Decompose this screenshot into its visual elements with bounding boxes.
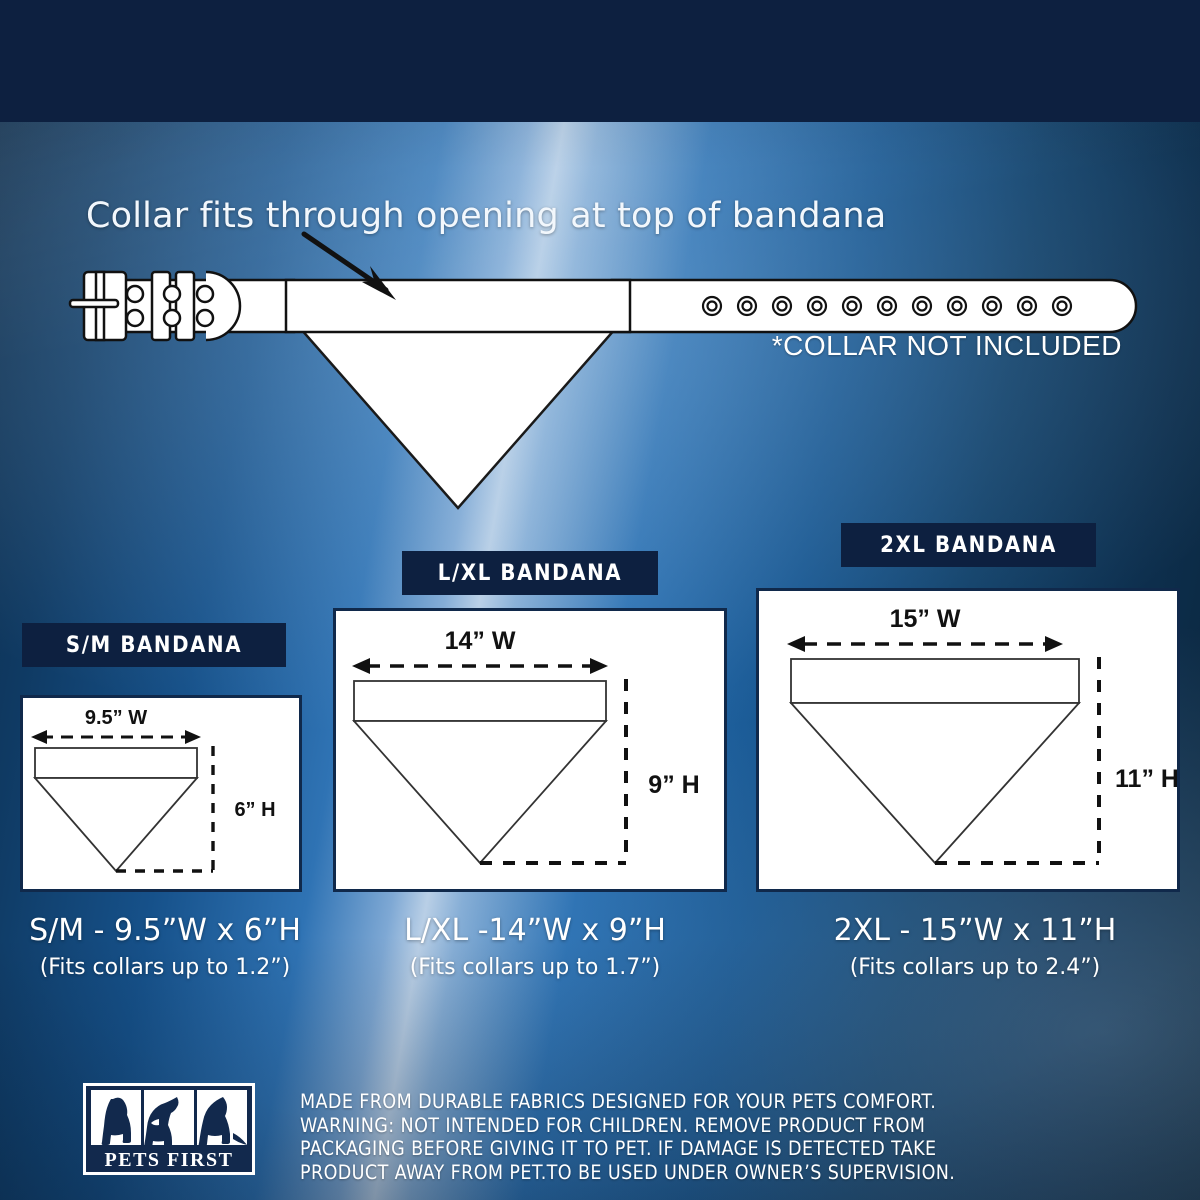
panel-2xl: 15” W 11” H — [756, 588, 1180, 892]
size-chart-page: REVERSIBLE COLLAR SIZE CHART Collar fits… — [0, 0, 1200, 1200]
caption-sm: S/M - 9.5”W x 6”H — [0, 913, 330, 948]
subcaption-2xl: (Fits collars up to 2.4”) — [810, 955, 1140, 980]
bandana-triangle-sm — [35, 778, 197, 871]
subcaption-sm: (Fits collars up to 1.2”) — [0, 955, 330, 980]
bandana-triangle-lxl — [354, 721, 606, 863]
dim-arrow-right-2xl — [1045, 636, 1063, 652]
caption-2xl: 2XL - 15”W x 11”H — [810, 913, 1140, 948]
collar-hole-b1 — [164, 286, 180, 302]
footer-line-4: PRODUCT AWAY FROM PET.TO BE USED UNDER O… — [300, 1161, 1100, 1185]
dim-arrow-right-lxl — [590, 658, 608, 674]
chip-sm: S/M BANDANA — [22, 623, 286, 667]
brand-name: PETS FIRST — [105, 1149, 234, 1171]
panel-sm: 9.5” W 6” H — [20, 695, 302, 892]
collar-hole-b2 — [164, 310, 180, 326]
dim-width-2xl: 15” W — [890, 605, 961, 633]
footer-disclaimer: MADE FROM DURABLE FABRICS DESIGNED FOR Y… — [300, 1090, 1100, 1184]
dim-height-sm: 6” H — [234, 799, 275, 821]
dim-arrow-left-lxl — [352, 658, 370, 674]
collar-not-included-note: *COLLAR NOT INCLUDED — [0, 330, 1200, 362]
bandana-triangle-2xl — [791, 703, 1079, 863]
brand-logo: PETS FIRST — [83, 1083, 255, 1179]
chip-2xl-label: 2XL BANDANA — [880, 533, 1057, 558]
bandana-band-2xl — [791, 659, 1079, 703]
dim-width-sm: 9.5” W — [85, 707, 147, 729]
header-bar — [0, 0, 1200, 122]
chip-sm-label: S/M BANDANA — [66, 633, 242, 658]
diagram-sm: 9.5” W 6” H — [23, 698, 299, 889]
dim-height-2xl: 11” H — [1115, 765, 1177, 793]
dim-arrow-left-2xl — [787, 636, 805, 652]
collar-hole-c1 — [197, 286, 213, 302]
collar-hole-c2 — [197, 310, 213, 326]
arrow-down-right-icon — [300, 228, 410, 308]
buckle-prong — [70, 300, 118, 307]
callout-label: Collar fits through opening at top of ba… — [86, 196, 886, 236]
dim-width-lxl: 14” W — [445, 627, 516, 655]
collar-hole-a1 — [127, 286, 143, 302]
collar-bandana-illustration — [0, 250, 1200, 530]
footer-line-2: WARNING: NOT INTENDED FOR CHILDREN. REMO… — [300, 1114, 1100, 1138]
diagram-lxl: 14” W 9” H — [336, 611, 724, 889]
chip-lxl: L/XL BANDANA — [402, 551, 658, 595]
bandana-band-lxl — [354, 681, 606, 721]
dim-height-lxl: 9” H — [648, 771, 699, 799]
diagram-2xl: 15” W 11” H — [759, 591, 1177, 889]
chip-lxl-label: L/XL BANDANA — [438, 561, 622, 586]
subcaption-lxl: (Fits collars up to 1.7”) — [370, 955, 700, 980]
bandana-band-sm — [35, 748, 197, 778]
footer-line-1: MADE FROM DURABLE FABRICS DESIGNED FOR Y… — [300, 1090, 1100, 1114]
caption-lxl: L/XL -14”W x 9”H — [370, 913, 700, 948]
panel-lxl: 14” W 9” H — [333, 608, 727, 892]
dim-arrow-left-sm — [31, 730, 47, 744]
collar-hole-a2 — [127, 310, 143, 326]
footer-line-3: PACKAGING BEFORE GIVING IT TO PET. IF DA… — [300, 1137, 1100, 1161]
dim-arrow-right-sm — [185, 730, 201, 744]
